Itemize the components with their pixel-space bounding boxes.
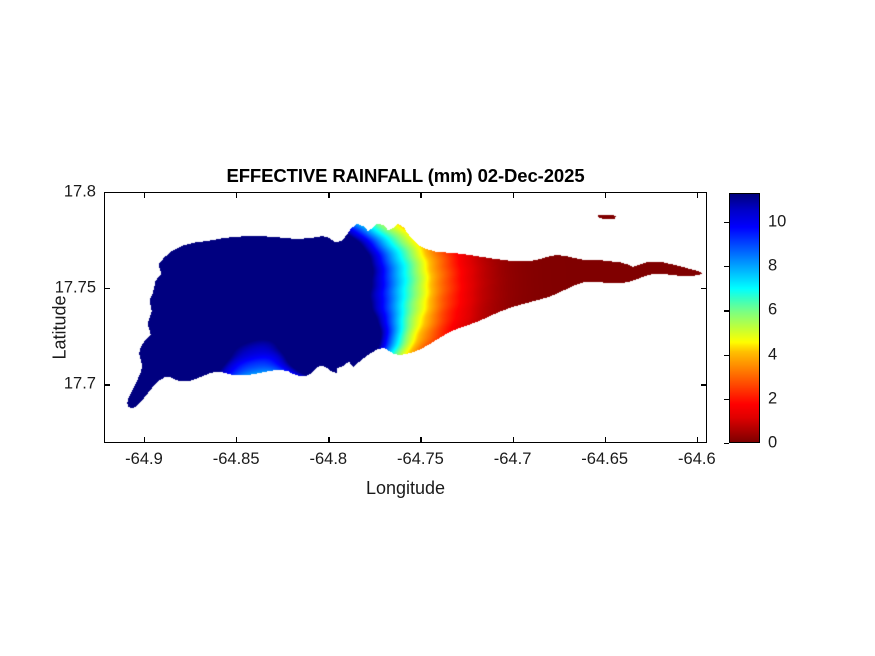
y-tick: [104, 384, 110, 385]
x-tick: [513, 192, 514, 198]
colorbar-tick-label: 2: [768, 389, 777, 408]
colorbar-tick-label: 10: [768, 212, 786, 231]
x-tick: [605, 192, 606, 198]
y-tick: [701, 384, 707, 385]
x-tick: [605, 437, 606, 443]
colorbar-tick: [724, 310, 729, 311]
x-tick-label: -64.9: [125, 450, 163, 469]
x-tick: [236, 192, 237, 198]
y-tick: [104, 288, 110, 289]
x-axis-label: Longitude: [104, 478, 707, 499]
x-tick: [328, 437, 329, 443]
x-tick: [144, 437, 145, 443]
y-tick: [701, 192, 707, 193]
x-tick-label: -64.7: [494, 450, 532, 469]
y-tick: [701, 288, 707, 289]
x-tick: [328, 192, 329, 198]
colorbar-tick: [724, 399, 729, 400]
x-tick: [697, 437, 698, 443]
colorbar-tick: [724, 222, 729, 223]
x-tick: [697, 192, 698, 198]
chart-title: EFFECTIVE RAINFALL (mm) 02-Dec-2025: [104, 165, 707, 187]
colorbar-gradient: [730, 194, 759, 442]
rainfall-heatmap: [105, 193, 707, 443]
x-tick-label: -64.85: [213, 450, 260, 469]
y-tick-label: 17.8: [64, 183, 96, 202]
x-tick-label: -64.65: [581, 450, 628, 469]
x-tick: [513, 437, 514, 443]
colorbar-tick: [724, 266, 729, 267]
x-tick: [420, 437, 421, 443]
colorbar-tick-label: 4: [768, 345, 777, 364]
x-tick: [420, 192, 421, 198]
colorbar-tick: [724, 355, 729, 356]
colorbar-tick-label: 8: [768, 257, 777, 276]
colorbar-tick-label: 0: [768, 434, 777, 453]
colorbar-tick-label: 6: [768, 301, 777, 320]
y-tick: [104, 192, 110, 193]
x-tick-label: -64.75: [397, 450, 444, 469]
figure-canvas: EFFECTIVE RAINFALL (mm) 02-Dec-2025 -64.…: [0, 0, 875, 656]
x-tick: [144, 192, 145, 198]
y-axis-label: Latitude: [50, 248, 71, 408]
x-tick-label: -64.6: [678, 450, 716, 469]
map-axes: [104, 192, 707, 443]
x-tick: [236, 437, 237, 443]
colorbar-tick: [724, 443, 729, 444]
x-tick-label: -64.8: [309, 450, 347, 469]
colorbar: [729, 193, 760, 443]
